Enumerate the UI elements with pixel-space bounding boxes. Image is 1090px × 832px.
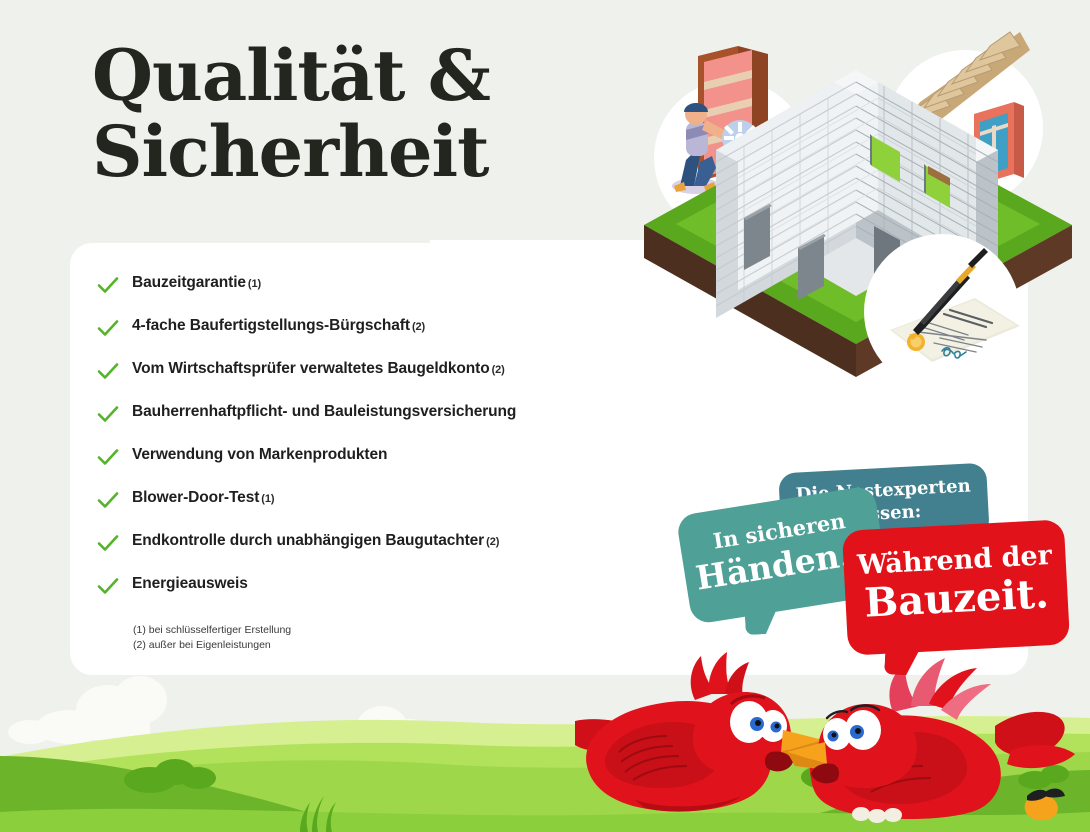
footnote-marker: (2): [486, 536, 499, 548]
list-item-label: Bauzeitgarantie(1): [132, 272, 261, 295]
list-item[interactable]: Bauzeitgarantie(1): [97, 272, 637, 315]
footnotes-block: (1) bei schlüsselfertiger Erstellung (2)…: [133, 623, 291, 653]
cloud-left: [8, 676, 167, 744]
check-icon: [97, 317, 119, 339]
list-item[interactable]: Blower-Door-Test(1): [97, 487, 637, 530]
list-item[interactable]: Energieausweis: [97, 573, 637, 616]
check-icon: [97, 274, 119, 296]
two-red-birds: [575, 630, 1090, 832]
list-item-label: Verwendung von Markenprodukten: [132, 444, 389, 467]
check-icon: [97, 489, 119, 511]
footnote-marker: (1): [261, 493, 274, 505]
quality-checklist: Bauzeitgarantie(1) 4-fache Baufertigstel…: [97, 272, 637, 616]
list-item-label: Endkontrolle durch unabhängigen Baugutac…: [132, 530, 499, 553]
bird-feet: [852, 807, 902, 823]
list-item[interactable]: Verwendung von Markenprodukten: [97, 444, 637, 487]
footnote-marker: (2): [412, 321, 425, 333]
list-item-label: Blower-Door-Test(1): [132, 487, 274, 510]
check-icon: [97, 360, 119, 382]
list-item[interactable]: Endkontrolle durch unabhängigen Baugutac…: [97, 530, 637, 573]
check-icon: [97, 575, 119, 597]
list-item[interactable]: Bauherrenhaftpflicht- und Bauleistungsve…: [97, 401, 637, 444]
list-item-label: Energieausweis: [132, 573, 250, 596]
bird-right: [787, 658, 1075, 823]
footnote-line-2: (2) außer bei Eigenleistungen: [133, 638, 291, 653]
check-icon: [97, 446, 119, 468]
infographic-canvas: Qualität & Sicherheit Bauzeitgarantie(1)…: [0, 0, 1090, 832]
bubble-tail: [884, 648, 919, 676]
check-icon: [97, 403, 119, 425]
list-item[interactable]: Vom Wirtschaftsprüfer verwaltetes Baugel…: [97, 358, 637, 401]
isometric-house-shell-illustration: [620, 10, 1090, 390]
bubble-tail: [745, 609, 778, 635]
list-item-label: Bauherrenhaftpflicht- und Bauleistungsve…: [132, 401, 518, 424]
bird-claw: [1025, 789, 1065, 821]
check-icon: [97, 532, 119, 554]
speech-bubble-bauzeit: Während der Bauzeit.: [842, 519, 1070, 655]
footnote-marker: (1): [248, 278, 261, 290]
bird-left: [575, 652, 823, 812]
page-title: Qualität & Sicherheit: [92, 38, 490, 190]
list-item-label: Vom Wirtschaftsprüfer verwaltetes Baugel…: [132, 358, 505, 381]
list-item[interactable]: 4-fache Baufertigstellungs-Bürgschaft(2): [97, 315, 637, 358]
footnote-marker: (2): [492, 364, 505, 376]
footnote-line-1: (1) bei schlüsselfertiger Erstellung: [133, 623, 291, 638]
list-item-label: 4-fache Baufertigstellungs-Bürgschaft(2): [132, 315, 425, 338]
